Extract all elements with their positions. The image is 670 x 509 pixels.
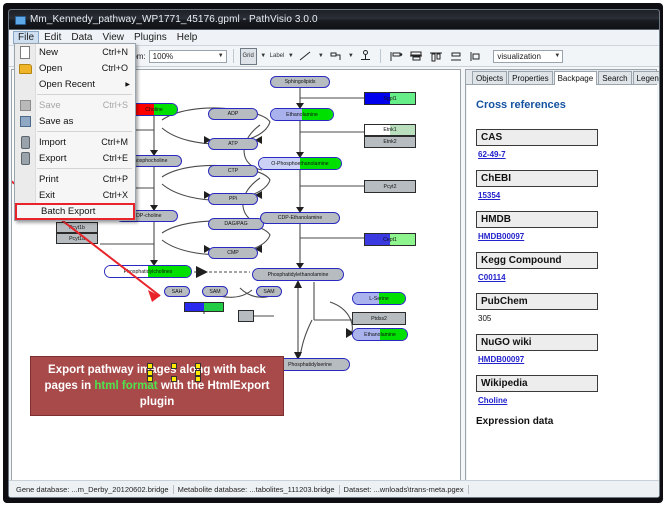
pathway-node-ctp[interactable]: CTP — [208, 165, 258, 177]
pathway-node-etnk1[interactable]: Etnk1 — [364, 124, 416, 136]
node-fill-left — [185, 303, 204, 311]
node-label: CMP — [227, 250, 239, 256]
selection-handle[interactable] — [147, 376, 153, 382]
grid-toggle-button[interactable]: Grid — [240, 48, 257, 65]
pathway-node-adp[interactable]: ADP — [208, 108, 258, 120]
stack-icon — [449, 51, 463, 62]
side-panel: Objects Properties Backpage Search Legen… — [465, 69, 657, 495]
visualization-combobox[interactable]: visualization ▼ — [493, 50, 563, 63]
node-label: ATP — [228, 141, 238, 147]
file-menu-item-label: Batch Export — [41, 206, 95, 217]
pathway-node-sphingolipids[interactable]: Sphingolipids — [270, 76, 330, 88]
xref-source-pubchem: PubChem — [476, 293, 598, 310]
node-label: Pcyt1a — [69, 236, 85, 242]
new-document-icon — [19, 46, 31, 58]
line-icon — [299, 51, 312, 62]
xref-source-nugo-wiki: NuGO wiki — [476, 334, 598, 351]
file-menu-item-print[interactable]: PrintCtrl+P — [15, 171, 135, 187]
interaction-icon — [329, 51, 342, 62]
label-style-button[interactable]: Label — [270, 53, 285, 59]
align-top-icon — [429, 51, 443, 62]
anchor-icon — [359, 50, 372, 62]
file-menu-item-label: Open Recent — [39, 79, 95, 90]
side-panel-tabs[interactable]: Objects Properties Backpage Search Legen… — [466, 70, 656, 85]
file-menu-item-label: Import — [39, 137, 66, 148]
file-menu-item-accelerator: Ctrl+S — [103, 100, 128, 110]
file-menu-popup[interactable]: NewCtrl+NOpenCtrl+OOpen Recent▶SaveCtrl+… — [14, 43, 136, 221]
node-label: O-Phosphoethanolamine — [271, 161, 328, 167]
stack-button[interactable] — [447, 48, 464, 65]
pathway-node-ethanolamine-bot[interactable]: Ethanolamine — [352, 328, 408, 341]
status-bar: Gene database: ...m_Derby_20120602.bridg… — [9, 480, 659, 497]
node-label: Phosphocholine — [131, 158, 168, 164]
selection-handle[interactable] — [195, 363, 201, 369]
pathway-node-choline-top[interactable]: Choline — [130, 103, 178, 116]
node-label: DAG/PAG — [224, 221, 247, 227]
align-left-button[interactable] — [387, 48, 404, 65]
tab-objects[interactable]: Objects — [472, 71, 507, 84]
pathway-node-sgpl1[interactable]: Sgpl1 — [364, 92, 416, 105]
file-menu-item-save-as[interactable]: Save as — [15, 113, 135, 129]
node-label: PPi — [229, 196, 237, 202]
node-label: SAM — [209, 289, 220, 295]
node-label: Cept1 — [383, 237, 397, 243]
file-menu-item-label: Export — [39, 153, 66, 164]
xref-value-pubchem: 305 — [478, 314, 648, 323]
tab-legend[interactable]: Legend — [633, 71, 660, 84]
title-bar: Mm_Kennedy_pathway_WP1771_45176.gpml - P… — [9, 10, 659, 30]
node-label: Choline — [145, 107, 163, 113]
pathway-node-l-serine[interactable]: L-Serine — [352, 292, 406, 305]
status-metabolite-database: Metabolite database: ...tabolites_111203… — [174, 485, 340, 494]
pathway-node-sam-right[interactable]: SAM — [256, 286, 282, 297]
toolbar-divider-2 — [380, 49, 381, 63]
pathway-node-legend-chip[interactable] — [184, 302, 224, 312]
node-label: L-Serine — [369, 296, 389, 302]
node-label: Etnk2 — [383, 139, 396, 145]
selection-handle[interactable] — [171, 363, 177, 369]
export-icon — [19, 152, 31, 164]
status-dataset: Dataset: ...wnloads\trans-meta.pgex — [340, 485, 469, 494]
file-menu-item-label: Save as — [39, 116, 73, 127]
tab-backpage[interactable]: Backpage — [554, 71, 598, 85]
node-fill-right — [204, 303, 223, 311]
file-menu-item-label: Exit — [39, 190, 55, 201]
interaction-tool-button[interactable] — [327, 48, 344, 65]
pathway-node-o-phosphoetha[interactable]: O-Phosphoethanolamine — [258, 157, 342, 170]
pathway-node-ppi[interactable]: PPi — [208, 193, 258, 205]
node-label: CDP-Ethanolamine — [278, 215, 322, 221]
chevron-down-icon: ▼ — [218, 53, 224, 59]
xref-value-nugo-wiki[interactable]: HMDB00097 — [478, 355, 648, 364]
node-label: Ptdss2 — [371, 316, 387, 322]
save-as-disk-icon — [19, 115, 31, 127]
anchor-tool-button[interactable] — [357, 48, 374, 65]
xref-source-hmdb: HMDB — [476, 211, 598, 228]
callout-text-after: with the HtmlExport plugin — [140, 380, 270, 408]
file-menu-item-accelerator: Ctrl+X — [103, 190, 128, 200]
zoom-value: 100% — [153, 52, 173, 61]
align-left-icon — [389, 51, 403, 62]
node-label: ADP — [228, 111, 239, 117]
pathway-node-cept1[interactable]: Cept1 — [364, 233, 416, 246]
align-top-button[interactable] — [427, 48, 444, 65]
node-label: Phosphatidylethanolamine — [268, 272, 329, 278]
pathway-node-cmp[interactable]: CMP — [208, 247, 258, 259]
tab-search[interactable]: Search — [598, 71, 631, 84]
file-menu-separator — [37, 94, 132, 95]
node-label: Phosphatidylserine — [288, 362, 332, 368]
pathway-node-ptdcholines[interactable]: Phosphatidylcholines — [104, 265, 192, 278]
callout-text: Export pathway images along with back pa… — [31, 362, 283, 410]
node-label: Sgpl1 — [383, 96, 396, 102]
zoom-combobox[interactable]: 100% ▼ — [149, 50, 227, 63]
node-label: Ethanolamine — [364, 332, 396, 338]
pathway-node-pcyt1a[interactable]: Pcyt1a — [56, 233, 98, 244]
xref-source-kegg-compound: Kegg Compound — [476, 252, 598, 269]
backpage-content: Cross references CAS62-49-7ChEBI15354HMD… — [467, 85, 657, 427]
align-middle-button[interactable] — [407, 48, 424, 65]
pathway-node-cdp-ethanolamine[interactable]: CDP-Ethanolamine — [260, 212, 340, 224]
xref-value-chebi[interactable]: 15354 — [478, 191, 648, 200]
pathway-node-sah-left[interactable]: SAH — [164, 286, 190, 297]
file-menu-item-label: Open — [39, 63, 62, 74]
node-label: Etnk1 — [383, 127, 396, 133]
line-tool-button[interactable] — [297, 48, 314, 65]
align-middle-icon — [409, 51, 423, 62]
xref-source-chebi: ChEBI — [476, 170, 598, 187]
file-menu-item-accelerator: Ctrl+N — [102, 47, 128, 57]
file-menu-item-accelerator: Ctrl+E — [103, 153, 128, 163]
pathway-node-ptdethanolamine[interactable]: Phosphatidylethanolamine — [252, 268, 344, 281]
selection-handle[interactable] — [195, 376, 201, 382]
open-folder-icon — [19, 62, 31, 74]
node-label: Ethanolamine — [286, 112, 318, 118]
selection-handle[interactable] — [195, 370, 201, 376]
file-menu-item-batch-export[interactable]: Batch Export — [15, 203, 135, 220]
pathway-node-ethanolamine-top[interactable]: Ethanolamine — [270, 108, 334, 121]
import-icon — [19, 136, 31, 148]
node-label: CTP — [228, 168, 238, 174]
visualization-value: visualization — [497, 52, 541, 61]
node-label: Phosphatidylcholines — [124, 269, 173, 275]
xref-source-wikipedia: Wikipedia — [476, 375, 598, 392]
node-label: SAH — [172, 289, 183, 295]
file-menu-item-open-recent[interactable]: Open Recent▶ — [15, 76, 135, 92]
pathway-node-atp[interactable]: ATP — [208, 138, 258, 150]
file-menu-item-accelerator: Ctrl+O — [102, 63, 128, 73]
pathway-node-sam-left[interactable]: SAM — [202, 286, 228, 297]
window-title: Mm_Kennedy_pathway_WP1771_45176.gpml - P… — [30, 14, 318, 25]
annotation-callout: Export pathway images along with back pa… — [30, 356, 284, 416]
chevron-down-icon-2: ▼ — [554, 53, 560, 59]
pathway-node-etnk2[interactable]: Etnk2 — [364, 136, 416, 148]
node-label: CDP-choline — [132, 213, 161, 219]
file-menu-item-accelerator: Ctrl+M — [101, 137, 128, 147]
menu-help[interactable]: Help — [172, 31, 203, 44]
file-menu-item-exit[interactable]: ExitCtrl+X — [15, 187, 135, 203]
expression-data-heading: Expression data — [476, 416, 648, 427]
selection-handle[interactable] — [147, 363, 153, 369]
selection-handle[interactable] — [171, 376, 177, 382]
size-icon — [469, 51, 483, 62]
xref-source-cas: CAS — [476, 129, 598, 146]
line-dropdown-icon[interactable]: ▼ — [317, 53, 324, 59]
desktop-background: Mm_Kennedy_pathway_WP1771_45176.gpml - P… — [0, 0, 670, 509]
file-menu-separator — [37, 168, 132, 169]
cross-references-heading: Cross references — [476, 99, 648, 111]
file-menu-item-label: Save — [39, 100, 61, 111]
node-label: SAM — [263, 289, 274, 295]
selection-handle[interactable] — [147, 370, 153, 376]
pathvisio-window: Mm_Kennedy_pathway_WP1771_45176.gpml - P… — [8, 9, 660, 498]
node-label: Sphingolipids — [285, 79, 316, 85]
cross-reference-list: CAS62-49-7ChEBI15354HMDBHMDB00097Kegg Co… — [476, 129, 648, 405]
save-disk-icon — [19, 99, 31, 111]
interaction-dropdown-icon[interactable]: ▼ — [347, 53, 354, 59]
file-menu-item-label: New — [39, 47, 58, 58]
file-menu-separator — [37, 131, 132, 132]
xref-value-wikipedia[interactable]: Choline — [478, 396, 648, 405]
size-button[interactable] — [467, 48, 484, 65]
file-menu-item-new[interactable]: NewCtrl+N — [15, 44, 135, 60]
file-menu-item-label: Print — [39, 174, 59, 185]
pathvisio-icon — [14, 14, 25, 25]
xref-value-kegg-compound[interactable]: C00114 — [478, 273, 648, 282]
pathway-node-dag-pag[interactable]: DAG/PAG — [208, 218, 264, 230]
submenu-chevron-icon: ▶ — [125, 81, 130, 88]
node-label: Pcyt1b — [69, 225, 85, 231]
grid-dropdown-icon[interactable]: ▼ — [260, 53, 267, 59]
pathway-node-ptdss2[interactable]: Ptdss2 — [352, 312, 406, 325]
file-menu-item-import[interactable]: ImportCtrl+M — [15, 134, 135, 150]
toolbar-divider — [233, 49, 234, 63]
file-menu-item-export[interactable]: ExportCtrl+E — [15, 150, 135, 166]
xref-value-cas[interactable]: 62-49-7 — [478, 150, 648, 159]
xref-value-hmdb[interactable]: HMDB00097 — [478, 232, 648, 241]
backpage-scrollpane[interactable]: Cross references CAS62-49-7ChEBI15354HMD… — [467, 85, 657, 494]
file-menu-item-accelerator: Ctrl+P — [103, 174, 128, 184]
pathway-node-small-grey-1[interactable] — [238, 310, 254, 322]
file-menu-item-open[interactable]: OpenCtrl+O — [15, 60, 135, 76]
label-dropdown-icon[interactable]: ▼ — [287, 53, 294, 59]
file-menu-item-save[interactable]: SaveCtrl+S — [15, 97, 135, 113]
tab-properties[interactable]: Properties — [508, 71, 552, 84]
node-label: Pcyt2 — [384, 184, 397, 190]
pathway-node-pcyt1b[interactable]: Pcyt1b — [56, 222, 98, 233]
status-gene-database: Gene database: ...m_Derby_20120602.bridg… — [12, 485, 174, 494]
pathway-node-pcyt2[interactable]: Pcyt2 — [364, 180, 416, 193]
